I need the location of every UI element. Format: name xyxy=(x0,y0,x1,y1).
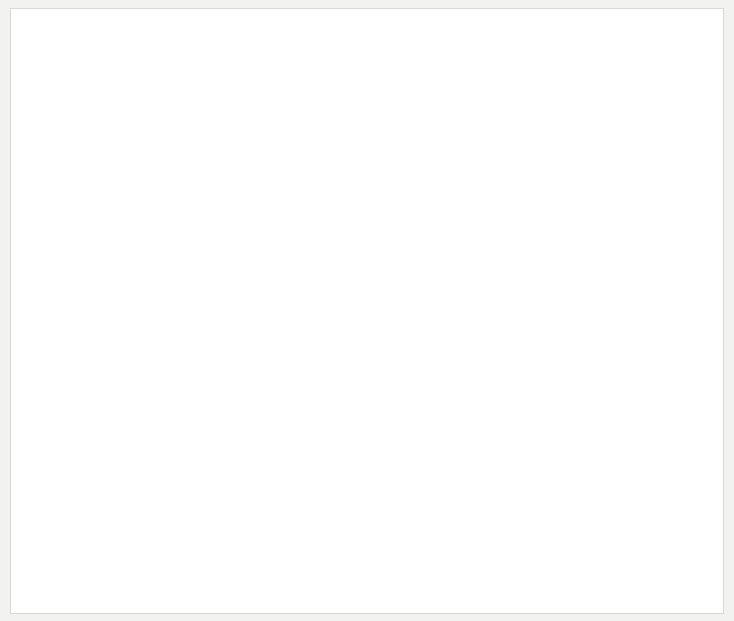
panel-b xyxy=(11,317,725,609)
panel-a xyxy=(11,57,725,319)
figure-card xyxy=(10,8,724,614)
panel-a-plot xyxy=(129,57,725,319)
panel-b-plot xyxy=(129,317,725,609)
panel-a-track-labels xyxy=(11,57,129,319)
panel-b-track-labels xyxy=(11,317,129,609)
